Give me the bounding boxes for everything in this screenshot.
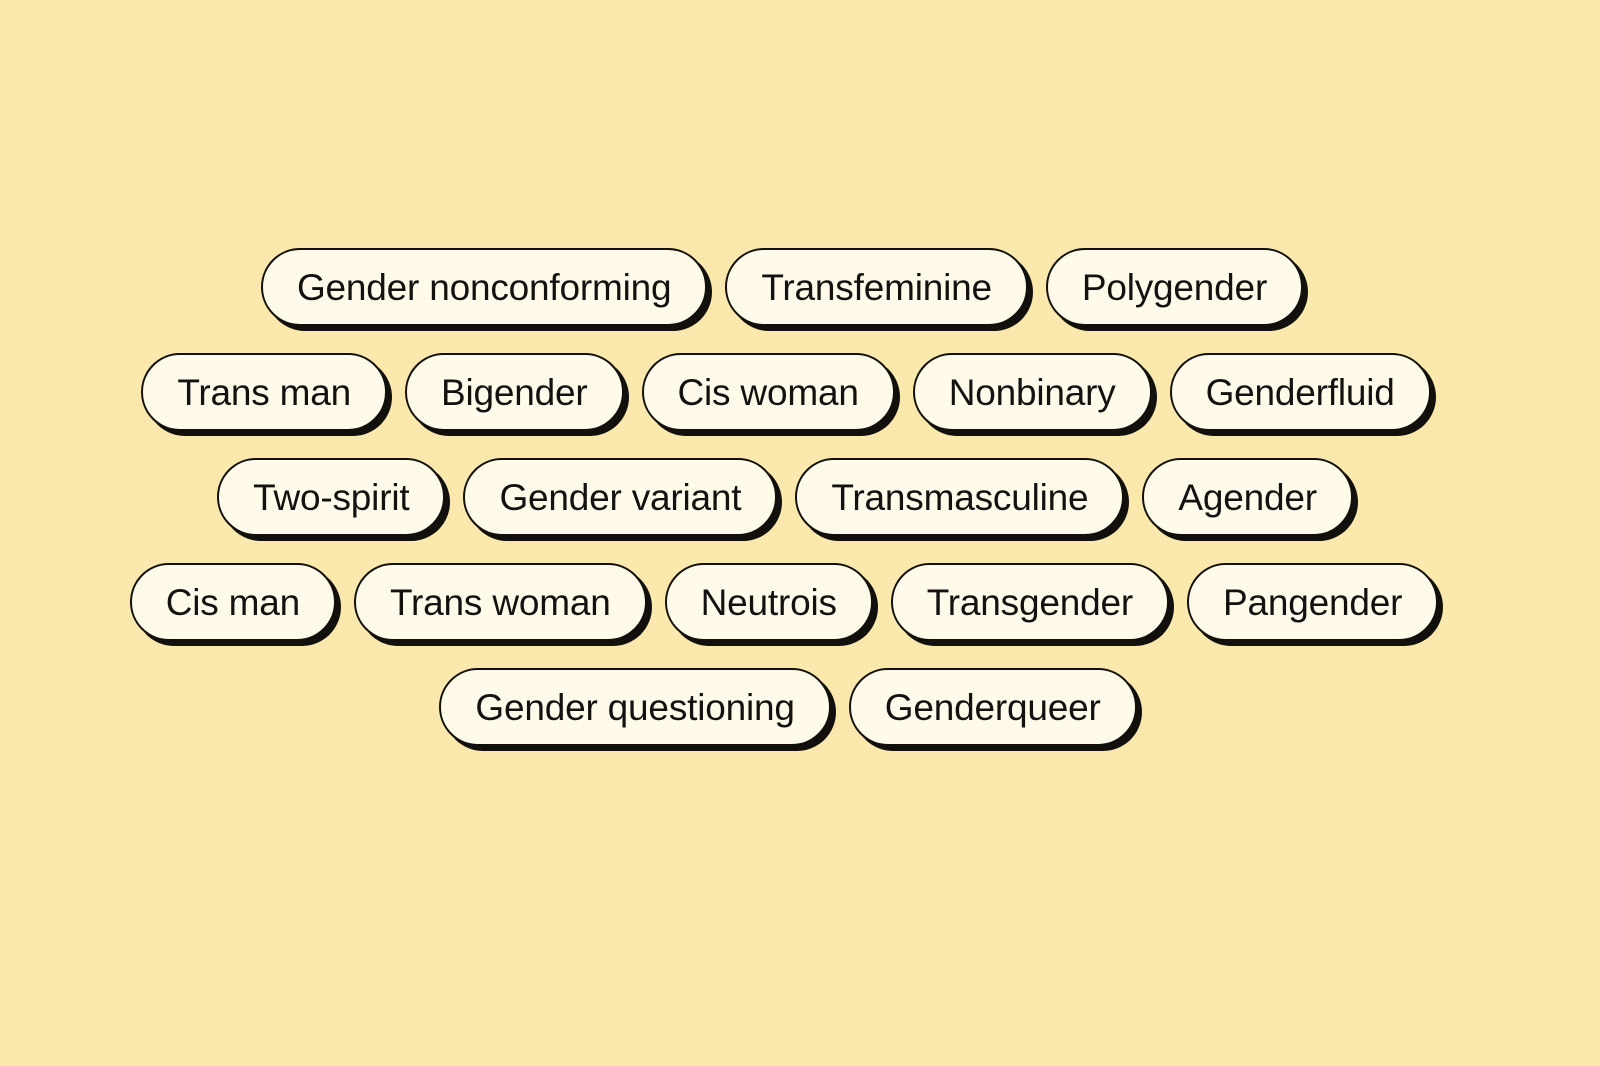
tag-pill-trans-woman[interactable]: Trans woman <box>354 563 647 641</box>
tag-pill-label: Bigender <box>441 374 588 411</box>
tag-pill-agender[interactable]: Agender <box>1142 458 1353 536</box>
tag-pill-transfeminine[interactable]: Transfeminine <box>725 248 1027 326</box>
tag-row: Gender questioning Genderqueer <box>439 668 1136 746</box>
tag-pill-two-spirit[interactable]: Two-spirit <box>217 458 445 536</box>
tag-row: Two-spirit Gender variant Transmasculine… <box>217 458 1353 536</box>
tag-pill-pangender[interactable]: Pangender <box>1187 563 1438 641</box>
tag-pill-label: Gender questioning <box>475 689 794 726</box>
tag-row: Trans man Bigender Cis woman Nonbinary G… <box>141 353 1430 431</box>
tag-row: Gender nonconforming Transfeminine Polyg… <box>261 248 1303 326</box>
tag-row: Cis man Trans woman Neutrois Transgender… <box>130 563 1439 641</box>
tag-pill-gender-nonconforming[interactable]: Gender nonconforming <box>261 248 707 326</box>
tag-pill-label: Cis woman <box>678 374 859 411</box>
tag-pill-nonbinary[interactable]: Nonbinary <box>913 353 1152 431</box>
page-canvas: Gender nonconforming Transfeminine Polyg… <box>0 0 1600 1066</box>
tag-pill-neutrois[interactable]: Neutrois <box>665 563 873 641</box>
tag-pill-polygender[interactable]: Polygender <box>1046 248 1303 326</box>
tag-pill-gender-questioning[interactable]: Gender questioning <box>439 668 830 746</box>
tag-pill-label: Agender <box>1178 479 1317 516</box>
tag-pill-label: Neutrois <box>701 584 837 621</box>
tag-pill-label: Pangender <box>1223 584 1402 621</box>
tag-pill-genderfluid[interactable]: Genderfluid <box>1170 353 1431 431</box>
tag-pill-label: Polygender <box>1082 269 1267 306</box>
tag-pill-label: Trans man <box>177 374 351 411</box>
tag-pill-label: Transmasculine <box>831 479 1088 516</box>
tag-pill-label: Cis man <box>166 584 300 621</box>
tag-pill-transmasculine[interactable]: Transmasculine <box>795 458 1124 536</box>
tag-pill-label: Two-spirit <box>253 479 409 516</box>
tag-pill-label: Genderfluid <box>1206 374 1395 411</box>
tag-pill-label: Transfeminine <box>761 269 991 306</box>
tag-pill-label: Genderqueer <box>885 689 1101 726</box>
tag-pill-label: Trans woman <box>390 584 611 621</box>
tag-pill-transgender[interactable]: Transgender <box>891 563 1169 641</box>
tag-pill-label: Gender nonconforming <box>297 269 671 306</box>
tag-pill-cis-woman[interactable]: Cis woman <box>642 353 895 431</box>
tag-cloud: Gender nonconforming Transfeminine Polyg… <box>0 248 1600 746</box>
tag-pill-trans-man[interactable]: Trans man <box>141 353 387 431</box>
tag-pill-gender-variant[interactable]: Gender variant <box>463 458 777 536</box>
tag-pill-genderqueer[interactable]: Genderqueer <box>849 668 1137 746</box>
tag-pill-cis-man[interactable]: Cis man <box>130 563 336 641</box>
tag-pill-label: Nonbinary <box>949 374 1116 411</box>
tag-pill-bigender[interactable]: Bigender <box>405 353 624 431</box>
tag-pill-label: Transgender <box>927 584 1133 621</box>
tag-pill-label: Gender variant <box>499 479 741 516</box>
